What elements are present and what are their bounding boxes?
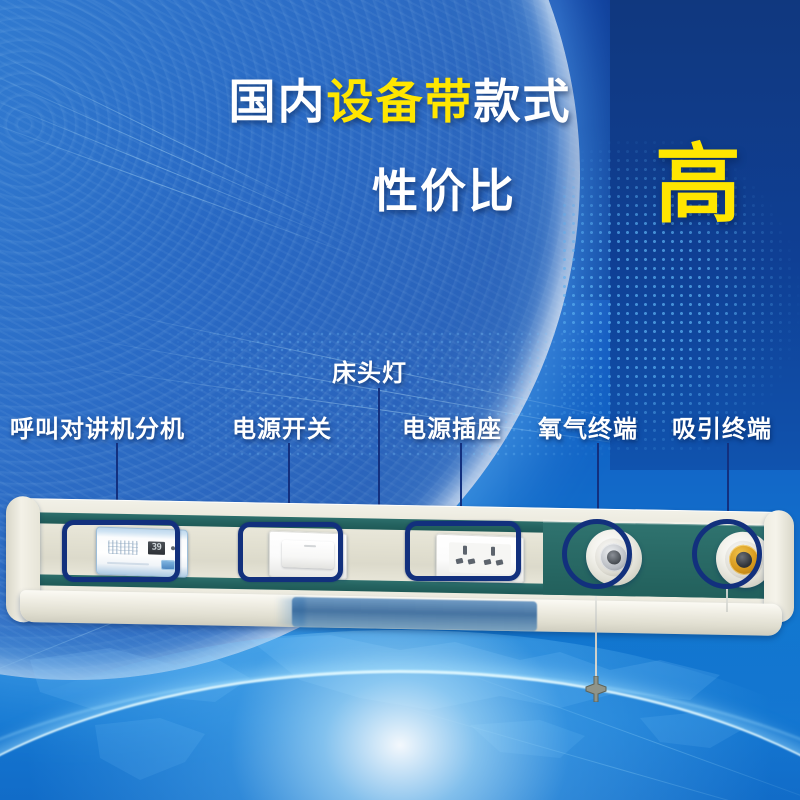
highlight-circle-suction bbox=[692, 519, 762, 589]
headline-line-1: 国内设备带款式 bbox=[0, 78, 800, 125]
highlight-circle-oxygen bbox=[562, 519, 632, 589]
promo-banner: 国内设备带款式 性价比 高 呼叫对讲机分机 电源开关 床头灯 电源插座 氧气终端… bbox=[0, 0, 800, 800]
oxygen-pull-cord[interactable] bbox=[595, 596, 597, 682]
cord-cross-fitting-icon bbox=[585, 676, 607, 702]
highlight-box-power-switch bbox=[238, 522, 343, 582]
headline-part-1: 国内 bbox=[229, 75, 327, 128]
headline-part-2-highlight: 设备带 bbox=[327, 75, 474, 128]
headline-line-2: 性价比 bbox=[372, 168, 516, 214]
headline-part-3: 款式 bbox=[474, 75, 572, 128]
callout-label-suction-outlet: 吸引终端 bbox=[672, 418, 772, 442]
suction-pull-cord[interactable] bbox=[726, 588, 728, 612]
callout-label-oxygen-outlet: 氧气终端 bbox=[538, 418, 638, 442]
callout-label-power-switch: 电源开关 bbox=[232, 418, 332, 442]
headline-emphasis: 高 bbox=[655, 142, 741, 228]
highlight-box-power-socket bbox=[405, 521, 521, 581]
callout-label-power-socket: 电源插座 bbox=[402, 418, 502, 442]
rail-reflection bbox=[292, 597, 537, 631]
headline-group: 国内设备带款式 bbox=[0, 78, 800, 125]
callout-label-intercom: 呼叫对讲机分机 bbox=[10, 418, 185, 442]
callout-label-bed-lamp: 床头灯 bbox=[332, 362, 407, 386]
highlight-box-intercom bbox=[62, 520, 180, 582]
